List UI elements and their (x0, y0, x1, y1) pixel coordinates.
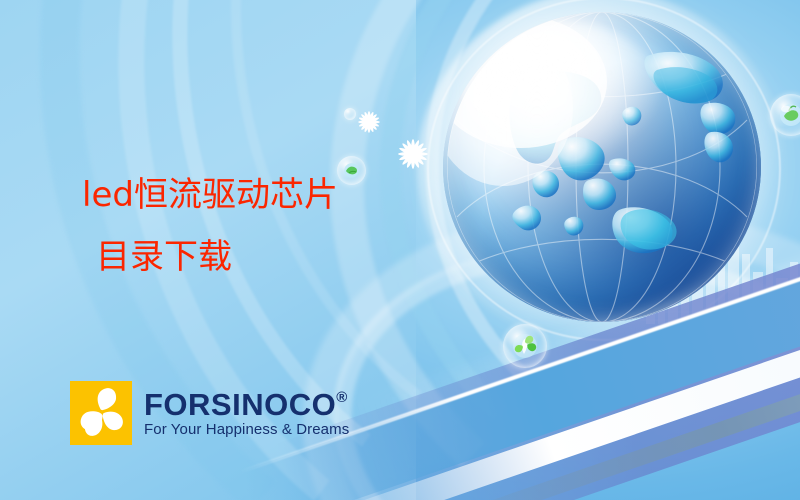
bubble-leaf-icon-2 (503, 324, 547, 368)
earth-globe-icon (443, 12, 761, 322)
company-logo: FORSINOCO® For Your Happiness & Dreams (70, 381, 349, 445)
starburst-icon-1 (356, 109, 382, 135)
globe-outer-ring (427, 0, 781, 341)
headline-line-2: 目录下载 (82, 226, 338, 288)
starburst-icon-2 (396, 137, 430, 171)
bubble-small-icon-4 (344, 108, 356, 120)
registered-trademark-icon: ® (336, 389, 348, 406)
poster-canvas: led恒流驱动芯片 目录下载 FORSINOCO® For Your Happi… (0, 0, 800, 500)
headline-text: led恒流驱动芯片 目录下载 (82, 164, 338, 288)
logo-name-text: FORSINOCO (144, 387, 336, 422)
logo-company-name: FORSINOCO® (144, 388, 349, 421)
headline-line-1: led恒流驱动芯片 (82, 175, 338, 215)
bubble-globe-icon-1 (337, 156, 366, 185)
logo-wordmark: FORSINOCO® For Your Happiness & Dreams (144, 388, 349, 439)
pinwheel-four-petal-icon (70, 381, 132, 445)
bubble-globe-icon-3 (770, 94, 800, 136)
logo-tagline: For Your Happiness & Dreams (144, 421, 349, 439)
